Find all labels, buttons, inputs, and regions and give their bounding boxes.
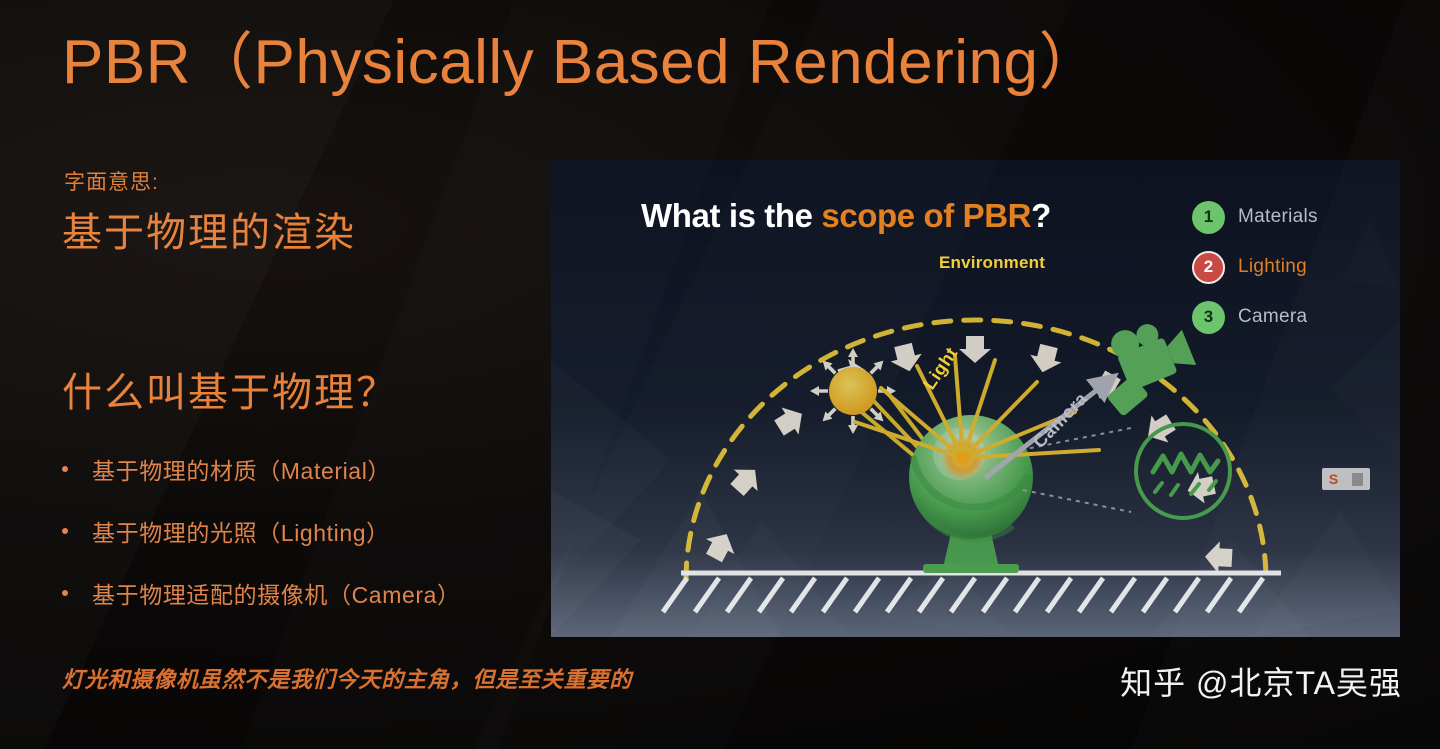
legend-number-badge: 1 [1192, 201, 1225, 234]
question-heading: 什么叫基于物理？ [62, 360, 398, 418]
camcorder-icon [1085, 309, 1203, 419]
diagram-image-panel: What is the scope of PBR? Environment Li… [551, 160, 1400, 637]
legend-label: Camera [1238, 306, 1307, 328]
source-watermark-badge: S [1322, 468, 1370, 490]
legend-label: Materials [1238, 206, 1318, 228]
list-item-label: 基于物理适配的摄像机（Camera） [92, 576, 461, 610]
list-item: 基于物理的材质（Material） [62, 452, 582, 486]
zhihu-watermark: 知乎 @北京TA吴强 [1120, 658, 1402, 704]
list-item-label: 基于物理的材质（Material） [92, 452, 391, 486]
light-source-icon [810, 348, 896, 434]
watermark-badge-glyph: S [1329, 472, 1338, 486]
legend-number-badge: 2 [1192, 251, 1225, 284]
legend-item-camera: 3 Camera [1192, 292, 1372, 342]
watermark-badge-block-icon [1352, 473, 1363, 486]
bullet-dot-icon [62, 528, 68, 534]
legend-item-lighting: 2 Lighting [1192, 242, 1372, 292]
panel-title: What is the scope of PBR? [641, 197, 1051, 235]
footnote-caption: 灯光和摄像机虽然不是我们今天的主角，但是至关重要的 [62, 662, 632, 694]
panel-title-suffix: ? [1031, 197, 1051, 234]
panel-title-accent: scope of PBR [821, 197, 1031, 234]
ground-hatch [663, 573, 1281, 612]
camera-label: Camera [1029, 388, 1092, 452]
list-item-label: 基于物理的光照（Lighting） [92, 514, 390, 548]
light-label: Light [919, 343, 962, 393]
list-item: 基于物理的光照（Lighting） [62, 514, 582, 548]
panel-title-prefix: What is the [641, 197, 821, 234]
bullet-dot-icon [62, 466, 68, 472]
bullet-list: 基于物理的材质（Material） 基于物理的光照（Lighting） 基于物理… [62, 452, 582, 638]
page-title: PBR（Physically Based Rendering） [62, 32, 1101, 94]
legend-label: Lighting [1238, 256, 1307, 278]
literal-meaning-label: 字面意思: [64, 166, 159, 196]
list-item: 基于物理适配的摄像机（Camera） [62, 576, 582, 610]
bullet-dot-icon [62, 590, 68, 596]
environment-label: Environment [939, 253, 1045, 273]
literal-meaning-value: 基于物理的渲染 [62, 200, 356, 258]
diagram-legend: 1 Materials 2 Lighting 3 Camera [1192, 192, 1372, 342]
slide-root: PBR（Physically Based Rendering） 字面意思: 基于… [0, 0, 1440, 749]
pedestal [923, 515, 1019, 573]
sphere-object [909, 415, 1033, 539]
legend-item-materials: 1 Materials [1192, 192, 1372, 242]
legend-number-badge: 3 [1192, 301, 1225, 334]
